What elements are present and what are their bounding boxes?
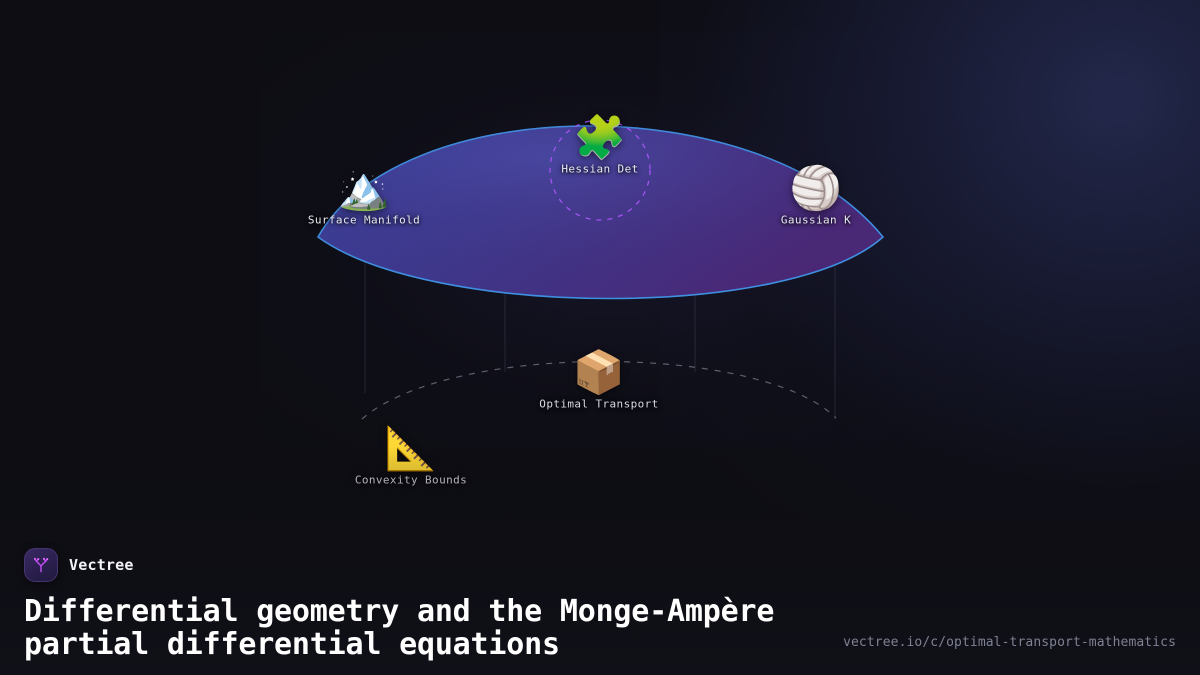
brand-row[interactable]: Vectree [24, 548, 1176, 582]
graph-node-hessian-det[interactable]: 🧩 Hessian Det [505, 115, 695, 176]
puzzle-piece-icon: 🧩 [505, 115, 695, 161]
vectree-glyph-icon [31, 555, 51, 575]
graph-node-label: Hessian Det [505, 163, 695, 176]
graph-node-label: Convexity Bounds [316, 474, 506, 487]
graph-node-label: Surface Manifold [269, 214, 459, 227]
vectree-tree-logo[interactable] [24, 548, 58, 582]
graph-node-label: Gaussian K [721, 214, 911, 227]
package-box-icon: 📦 [504, 350, 694, 396]
graph-node-optimal-transport[interactable]: 📦 Optimal Transport [504, 350, 694, 411]
page-title: Differential geometry and the Monge-Ampè… [24, 595, 814, 661]
mountain-snow-icon: 🏔️ [269, 166, 459, 212]
source-url: vectree.io/c/optimal-transport-mathemati… [843, 635, 1176, 650]
volleyball-icon: 🏐 [721, 166, 911, 212]
graph-node-gaussian-k[interactable]: 🏐 Gaussian K [721, 166, 911, 227]
graph-node-label: Optimal Transport [504, 398, 694, 411]
brand-name: Vectree [69, 556, 134, 574]
graph-node-surface-manifold[interactable]: 🏔️ Surface Manifold [269, 166, 459, 227]
graph-node-convexity-bounds[interactable]: 📐 Convexity Bounds [316, 426, 506, 487]
triangular-ruler-icon: 📐 [316, 426, 506, 472]
footer-bar: Vectree Differential geometry and the Mo… [0, 548, 1200, 675]
